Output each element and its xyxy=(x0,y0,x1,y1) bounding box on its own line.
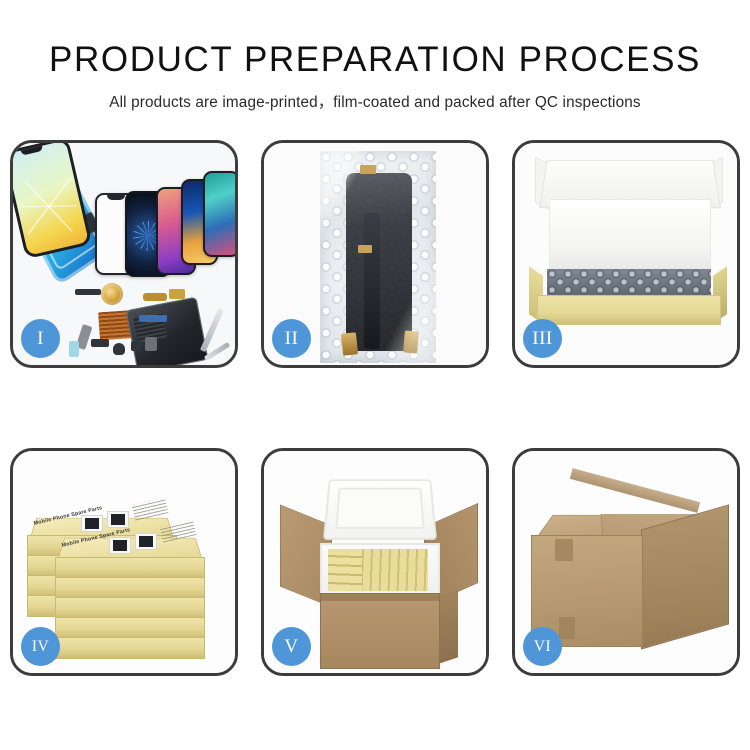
box-slab-f2 xyxy=(55,577,205,599)
box-slab-f4 xyxy=(55,617,205,639)
process-step-card-3[interactable]: III xyxy=(512,140,740,368)
carton-right-side xyxy=(641,504,729,649)
part-chip xyxy=(131,341,141,351)
part-speaker xyxy=(75,289,101,295)
part-camera xyxy=(145,337,157,351)
step-badge-6: VI xyxy=(523,627,562,666)
part-blue-flex xyxy=(139,315,167,322)
process-step-card-6[interactable]: VI xyxy=(512,448,740,676)
coil-component xyxy=(101,283,123,305)
part-gold-connector xyxy=(169,289,185,299)
process-step-card-5[interactable]: V xyxy=(261,448,489,676)
page-title: PRODUCT PREPARATION PROCESS xyxy=(0,0,750,79)
tape-strip-middle xyxy=(358,245,372,253)
page-subtitle: All products are image-printed，film-coat… xyxy=(0,79,750,112)
foam-sheet xyxy=(549,199,711,273)
part-gold-flex xyxy=(143,293,167,301)
box-screen-image-a xyxy=(81,515,103,532)
logic-board xyxy=(126,297,209,365)
box-screen-image-d xyxy=(135,533,157,550)
phone-teal xyxy=(203,171,235,257)
bubble-wrap-bag xyxy=(320,151,436,363)
process-step-card-4[interactable]: Mobile Phone Spare Parts Mobile Phone Sp… xyxy=(10,448,238,676)
part-sim-tray xyxy=(69,341,79,357)
box-front-panel xyxy=(537,295,721,325)
step-badge-4: IV xyxy=(21,627,60,666)
carton-tab-lower xyxy=(559,617,575,639)
step-badge-3: III xyxy=(523,319,562,358)
step-badge-5: V xyxy=(272,627,311,666)
tape-strip-top xyxy=(360,165,376,174)
box-screen-image-b xyxy=(107,511,129,528)
part-button xyxy=(113,343,125,355)
box-slab-f5 xyxy=(55,637,205,659)
process-step-card-1[interactable]: I xyxy=(10,140,238,368)
box-screen-image-c xyxy=(109,537,131,554)
carton-front xyxy=(320,593,440,669)
foam-box-lid xyxy=(323,479,437,539)
step-badge-1: I xyxy=(21,319,60,358)
process-step-grid: I II xyxy=(10,140,740,740)
part-bracket xyxy=(91,339,109,347)
box-slab-f1 xyxy=(55,557,205,579)
step-badge-2: II xyxy=(272,319,311,358)
carton-tab-upper xyxy=(555,539,573,561)
page-header: PRODUCT PREPARATION PROCESS All products… xyxy=(0,0,750,128)
packed-yellow-boxes-side xyxy=(328,549,362,591)
connector-left xyxy=(341,332,358,355)
process-step-card-2[interactable]: II xyxy=(261,140,489,368)
connector-right xyxy=(403,330,419,353)
box-slab-f3 xyxy=(55,597,205,619)
wrapped-flex-cable xyxy=(364,213,380,349)
